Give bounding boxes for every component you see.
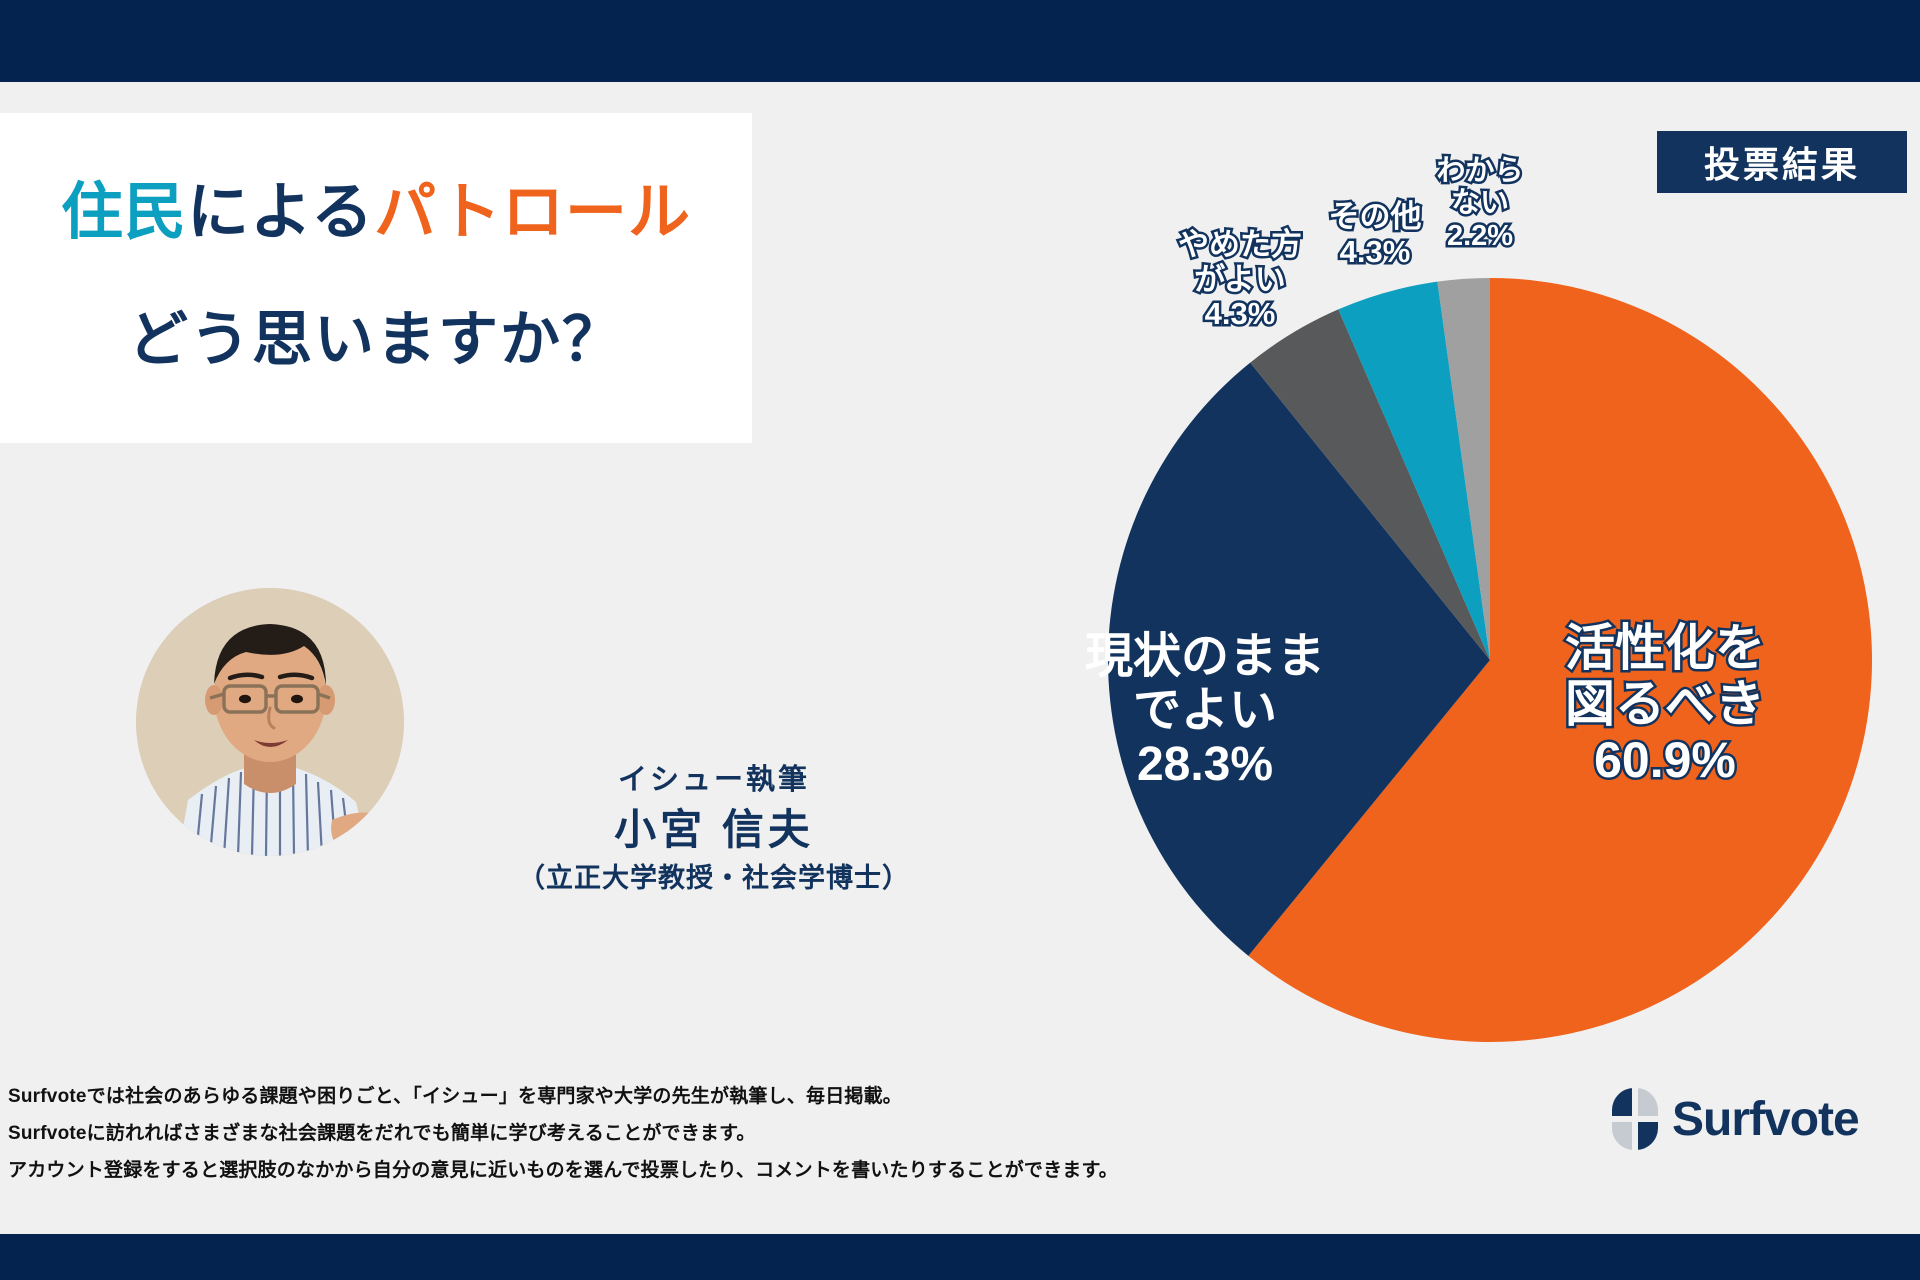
title-line-2: どう思いますか？ — [0, 291, 752, 378]
footnote-line-3: アカウント登録をすると選択肢のなかから自分の意見に近いものを選んで投票したり、コ… — [8, 1152, 1208, 1189]
pie-label-activate-line1: 活性化を — [1565, 620, 1765, 676]
bottom-bar — [0, 1234, 1920, 1280]
surfvote-logo-text: Surfvote — [1672, 1092, 1859, 1147]
footnote: Surfvoteでは社会のあらゆる課題や困りごと、「イシュー」を専門家や大学の先… — [8, 1078, 1208, 1189]
pie-label-activate-line2: 図るべき — [1565, 676, 1765, 732]
pie-label-status-quo-line2: でよい — [1133, 684, 1277, 737]
footnote-line-1: Surfvoteでは社会のあらゆる課題や困りごと、「イシュー」を専門家や大学の先… — [8, 1078, 1208, 1115]
pie-value-status-quo: 28.3% — [1045, 738, 1365, 792]
pie-label-unknown-line1: わから — [1436, 155, 1523, 187]
pie-label-activate: 活性化を 図るべき 60.9% — [1505, 620, 1825, 788]
pie-label-status-quo: 現状のまま でよい 28.3% — [1045, 630, 1365, 791]
pie-label-unknown: わから ない 2.2% — [1400, 155, 1560, 252]
pie-value-unknown: 2.2% — [1400, 220, 1560, 252]
pie-value-activate: 60.9% — [1505, 732, 1825, 788]
title-card: 住民によるパトロール どう思いますか？ — [0, 113, 752, 443]
surfvote-logo-mark-icon — [1612, 1088, 1658, 1150]
pie-label-status-quo-line1: 現状のまま — [1085, 630, 1325, 683]
title-highlight-orange: パトロール — [374, 178, 691, 247]
pie-label-stop-line2: がよい — [1194, 262, 1285, 297]
author-block: イシュー執筆 小宮 信夫 （立正大学教授・社会学博士） — [404, 762, 1024, 896]
title-plain-1: による — [187, 178, 374, 247]
footnote-line-2: Surfvoteに訪れればさまざまな社会課題をだれでも簡単に学び考えることができ… — [8, 1115, 1208, 1152]
avatar — [136, 588, 404, 856]
author-name: 小宮 信夫 — [404, 802, 1024, 859]
pie-value-stop: 4.3% — [1140, 297, 1340, 332]
author-role: イシュー執筆 — [404, 762, 1024, 798]
pie-label-stop-line1: やめた方 — [1178, 227, 1302, 262]
top-bar — [0, 0, 1920, 82]
title-highlight-teal: 住民 — [61, 178, 187, 247]
pie-label-unknown-line2: ない — [1451, 187, 1509, 219]
title-line-1: 住民によるパトロール — [0, 161, 752, 251]
status-badge: 投票結果 — [1657, 131, 1907, 193]
surfvote-logo: Surfvote — [1612, 1088, 1859, 1150]
author-affiliation: （立正大学教授・社会学博士） — [404, 861, 1024, 896]
